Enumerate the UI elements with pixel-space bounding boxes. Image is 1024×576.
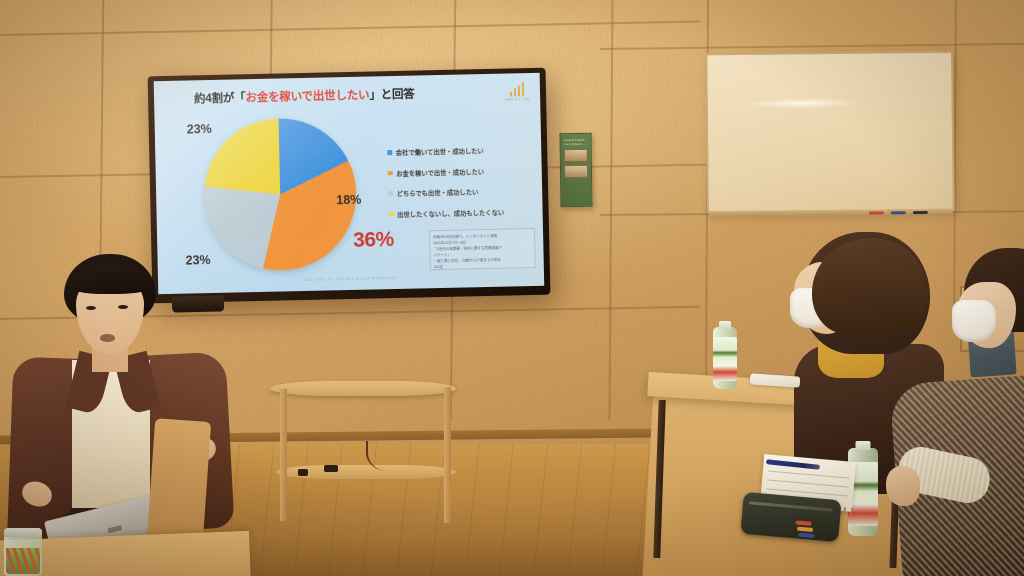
console-leg: [444, 387, 451, 523]
presenter-person: [8, 250, 243, 576]
bottle-cap: [856, 441, 871, 450]
legend-swatch-blue: [387, 150, 392, 155]
console-leg: [280, 389, 287, 521]
chart-legend: 会社で働いて出世・成功したい お金を稼いで出世・成功したい どちらでも出世・成功…: [387, 145, 539, 230]
whiteboard-marker[interactable]: [869, 211, 884, 214]
slide-footnote-box: 対象/RES自社調べ、インターネット調査 2021年11月7日～8日 「Z世代の…: [429, 228, 536, 270]
slide-title-suffix: 」と回答: [369, 89, 414, 102]
jar-contents: [6, 548, 40, 574]
bottle-cap: [719, 321, 731, 329]
wall-poster-image: [564, 149, 588, 162]
eye-right: [118, 305, 128, 309]
legend-item[interactable]: お金を稼いで出世・成功したい: [388, 165, 538, 177]
wooden-console-table: [270, 381, 456, 529]
slide-title-prefix: 約4割が「: [194, 92, 246, 105]
wall-poster: Connect to Wi-Fi Guest Network: [559, 133, 592, 207]
green-tea-bottle[interactable]: [713, 327, 737, 389]
pie-label-orange: 36%: [353, 228, 394, 253]
pen-in-case[interactable]: [795, 520, 811, 525]
legend-label: 会社で働いて出世・成功したい: [396, 146, 484, 157]
power-adapter: [298, 469, 308, 476]
bottle-label: [713, 337, 737, 381]
legend-label: 出世したくないし、成功もしたくない: [397, 207, 504, 218]
legend-swatch-orange: [388, 171, 393, 176]
slide-title: 約4割が「お金を稼いで出世したい」と回答: [194, 84, 494, 107]
console-table-top: [270, 381, 456, 396]
face-mask: [952, 300, 996, 342]
legend-swatch-yellow: [389, 212, 394, 217]
mouth: [100, 334, 115, 342]
whiteboard-marker[interactable]: [913, 211, 928, 214]
pie-label-blue: 18%: [336, 193, 361, 208]
bar-chart-logo-icon: [502, 82, 532, 97]
legend-item[interactable]: 会社で働いて出世・成功したい: [387, 145, 537, 157]
meeting-room-scene: Connect to Wi-Fi Guest Network 約4割が「お金を稼…: [0, 0, 1024, 576]
power-adapter: [324, 465, 338, 472]
salad-jar[interactable]: [4, 528, 42, 576]
whiteboard-glare: [742, 98, 862, 109]
company-logo: RES Co.,Ltd: [502, 82, 532, 102]
wall-poster-subtext: Guest Network: [564, 142, 588, 147]
slide-page-number: 6: [533, 272, 535, 277]
legend-swatch-gray: [388, 191, 393, 196]
slide-title-highlight: お金を稼いで出世したい: [245, 90, 369, 105]
attendee-person-2: [958, 248, 1024, 576]
legend-label: お金を稼いで出世・成功したい: [396, 167, 484, 178]
whiteboard-marker[interactable]: [891, 211, 906, 214]
pen-in-case[interactable]: [797, 527, 813, 532]
eye-left: [86, 306, 96, 310]
pencil-case[interactable]: [740, 492, 841, 542]
jar-lid: [4, 528, 42, 537]
pen-in-case[interactable]: [798, 533, 814, 538]
whiteboard: [705, 51, 955, 214]
company-logo-text: RES Co.,Ltd: [502, 97, 532, 102]
legend-item[interactable]: 出世したくないし、成功もしたくない: [389, 206, 539, 218]
wall-poster-image: [564, 165, 588, 178]
pie-chart-slices: [203, 117, 358, 272]
pie-chart: [203, 117, 358, 272]
pencil-case-zipper[interactable]: [749, 501, 833, 511]
pie-label-yellow: 23%: [187, 122, 212, 137]
hair-front: [812, 238, 928, 334]
hand: [886, 466, 920, 506]
legend-item[interactable]: どちらでも出世・成功したい: [388, 186, 538, 198]
legend-label: どちらでも出世・成功したい: [397, 187, 479, 198]
